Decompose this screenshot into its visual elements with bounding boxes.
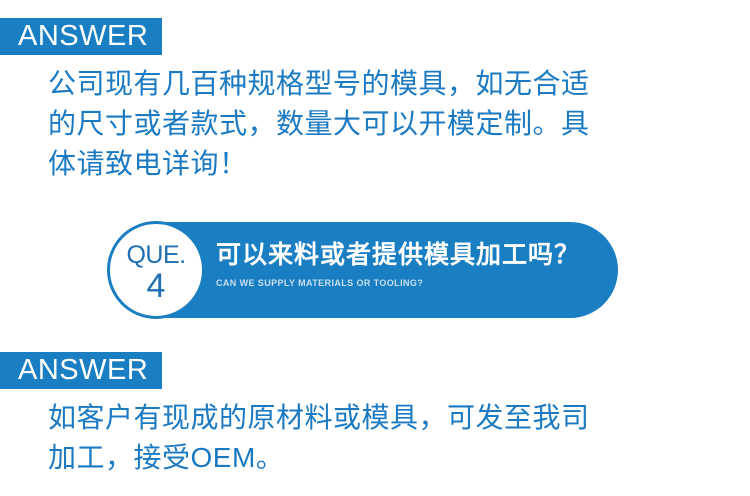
answer-line: 加工，接受OEM。: [48, 438, 708, 478]
question-que-label: QUE.: [126, 243, 185, 268]
answer-line: 的尺寸或者款式，数量大可以开模定制。具: [48, 104, 708, 144]
faq-page: ANSWER 公司现有几百种规格型号的模具，如无合适 的尺寸或者款式，数量大可以…: [0, 0, 750, 496]
answer-line: 公司现有几百种规格型号的模具，如无合适: [48, 64, 708, 104]
answer-body-bottom: 如客户有现成的原材料或模具，可发至我司 加工，接受OEM。: [48, 398, 708, 478]
answer-body-top: 公司现有几百种规格型号的模具，如无合适 的尺寸或者款式，数量大可以开模定制。具 …: [48, 64, 708, 184]
question-text-block: 可以来料或者提供模具加工吗？ CAN WE SUPPLY MATERIALS O…: [216, 240, 596, 290]
question-subtitle-en: CAN WE SUPPLY MATERIALS OR TOOLING?: [216, 276, 596, 290]
question-number: 4: [147, 270, 166, 302]
question-title-cn: 可以来料或者提供模具加工吗？: [216, 240, 596, 270]
question-pill: QUE. 4 可以来料或者提供模具加工吗？ CAN WE SUPPLY MATE…: [108, 222, 618, 318]
answer-line: 体请致电详询！: [48, 144, 708, 184]
answer-line: 如客户有现成的原材料或模具，可发至我司: [48, 398, 708, 438]
answer-badge-top: ANSWER: [0, 18, 162, 55]
answer-badge-bottom: ANSWER: [0, 352, 162, 389]
question-number-circle: QUE. 4: [107, 221, 205, 319]
